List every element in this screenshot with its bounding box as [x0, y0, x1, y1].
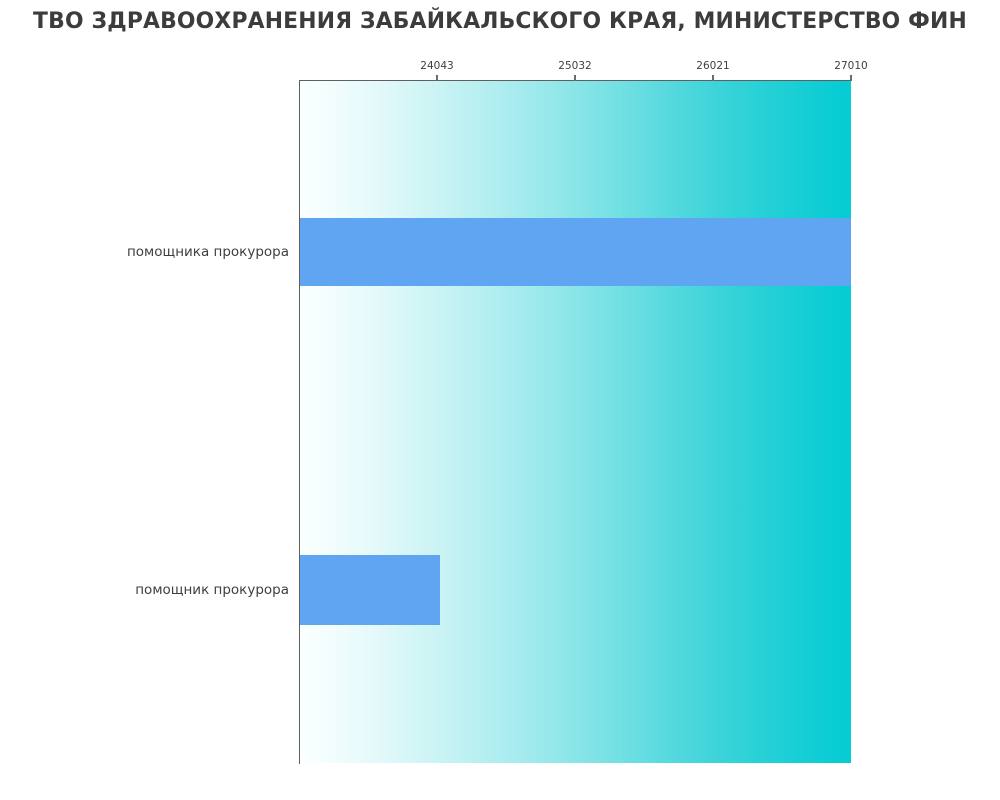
x-tick-mark — [850, 75, 851, 81]
x-tick-mark — [574, 75, 575, 81]
x-tick-label: 26021 — [696, 60, 729, 72]
axis-spine-left — [299, 80, 300, 764]
x-tick-label: 24043 — [420, 60, 453, 72]
y-axis-category-label: помощник прокурора — [0, 582, 289, 598]
y-axis-category-label: помощника прокурора — [0, 244, 289, 260]
chart-title: ТВО ЗДРАВООХРАНЕНИЯ ЗАБАЙКАЛЬСКОГО КРАЯ,… — [15, 0, 985, 42]
chart-figure: ТВО ЗДРАВООХРАНЕНИЯ ЗАБАЙКАЛЬСКОГО КРАЯ,… — [0, 0, 1000, 800]
bar[interactable] — [300, 218, 851, 286]
x-tick-label: 25032 — [558, 60, 591, 72]
plot-area — [300, 81, 851, 763]
x-tick-mark — [436, 75, 437, 81]
x-tick-label: 27010 — [834, 60, 867, 72]
chart-title-container: ТВО ЗДРАВООХРАНЕНИЯ ЗАБАЙКАЛЬСКОГО КРАЯ,… — [0, 0, 1000, 46]
x-tick-mark — [712, 75, 713, 81]
bar[interactable] — [300, 555, 440, 625]
